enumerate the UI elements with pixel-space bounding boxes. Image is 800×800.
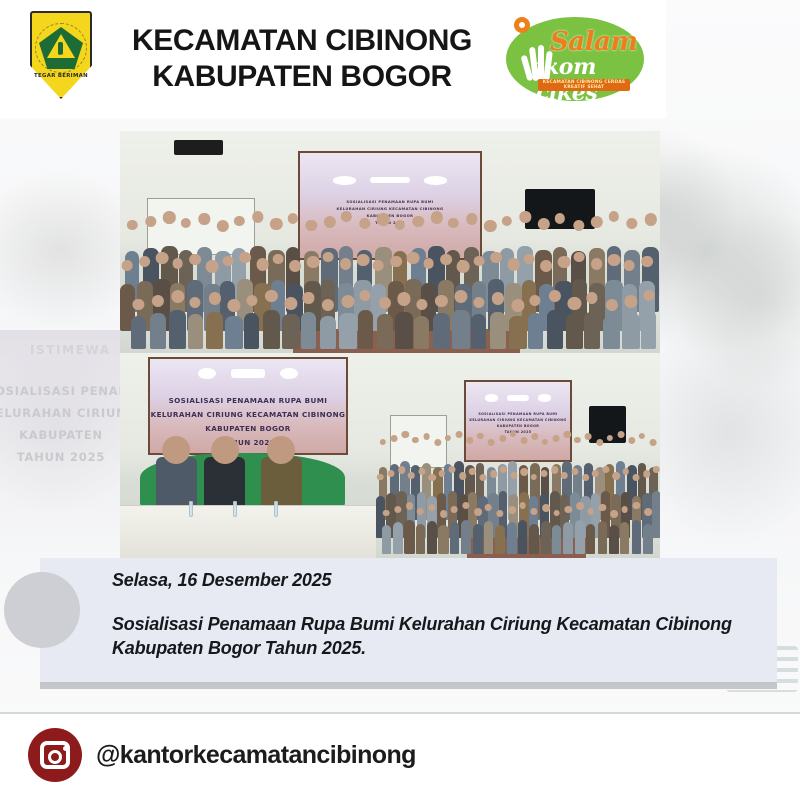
salam-ikom-cikes-logo-icon: Salam ikom cikes KECAMATAN CIBINONG CERD… <box>506 13 644 105</box>
caption-body: Sosialisasi Penamaan Rupa Bumi Kelurahan… <box>112 612 762 660</box>
banner-secondary-logo <box>538 394 552 401</box>
banner-secondary-logo <box>424 176 447 184</box>
banner-crest-logo <box>198 368 216 379</box>
background-ghost-badge: ISTIMEWA <box>30 343 111 357</box>
head-table <box>120 505 376 558</box>
instagram-lens-shape <box>48 750 62 764</box>
banner-secondary-logo <box>280 368 298 379</box>
crest-motto-label: TEGAR BERIMAN <box>28 73 94 79</box>
speakers-row <box>120 456 376 505</box>
banner-istimewa-logo <box>370 177 410 183</box>
banner-line-1: SOSIALISASI PENAMAAN RUPA BUMI <box>150 394 346 408</box>
banner-crest-logo <box>485 394 499 401</box>
banner-line-1: SOSIALISASI PENAMAAN RUPA BUMI <box>300 199 480 206</box>
banner-line-3: KABUPATEN BOGOR <box>150 422 346 436</box>
banner-istimewa-logo <box>231 369 264 378</box>
salam-thumb-icon <box>514 17 530 33</box>
poster-canvas: ISTIMEWA SOSIALISASI PENAMAAN KELURAHAN … <box>0 0 800 800</box>
title-line-2: KABUPATEN BOGOR <box>104 59 500 95</box>
poster-footer: @kantorkecamatancibinong BerAKHLAK Beror… <box>0 714 800 800</box>
salam-tagline: KECAMATAN CIBINONG CERDAS KREATIF SEHAT <box>538 79 630 91</box>
panel-speakers-photo: SOSIALISASI PENAMAAN RUPA BUMI KELURAHAN… <box>120 353 376 558</box>
salam-word-primary: Salam <box>550 27 637 57</box>
crest-inner-label: BOGOR <box>39 54 83 59</box>
photo-collage: SOSIALISASI PENAMAAN RUPA BUMI KELURAHAN… <box>120 131 660 558</box>
ghost-banner-line-2: KELURAHAN CIRIUNG KEC <box>0 402 136 424</box>
banner-logo-row <box>466 393 570 403</box>
instagram-account[interactable]: @kantorkecamatancibinong <box>28 728 416 782</box>
projector-icon <box>174 140 223 156</box>
bogor-regency-emblem-icon: BOGOR TEGAR BERIMAN <box>18 7 104 111</box>
banner-istimewa-logo <box>507 395 530 400</box>
crowd-secondary <box>376 431 660 558</box>
ghost-banner-line-1: SOSIALISASI PENAMAAN <box>0 380 136 402</box>
caption-panel-shadow <box>40 682 777 689</box>
water-bottle <box>189 501 193 517</box>
instagram-icon[interactable] <box>28 728 82 782</box>
background-ghost-banner: SOSIALISASI PENAMAAN KELURAHAN CIRIUNG K… <box>0 380 136 468</box>
page-title: KECAMATAN CIBINONG KABUPATEN BOGOR <box>104 23 506 95</box>
water-bottle <box>274 501 278 517</box>
group-photo-main: SOSIALISASI PENAMAAN RUPA BUMI KELURAHAN… <box>120 131 660 353</box>
group-photo-secondary: SOSIALISASI PENAMAAN RUPA BUMI KELURAHAN… <box>376 353 660 558</box>
crowd-main <box>120 215 660 353</box>
banner-logo-row <box>150 367 346 381</box>
banner-line-2: KELURAHAN CIRIUNG KECAMATAN CIBINONG <box>150 408 346 422</box>
water-bottle <box>233 501 237 517</box>
decorative-circle <box>4 572 80 648</box>
ghost-banner-line-4: TAHUN 2025 <box>0 446 136 468</box>
banner-logo-row <box>300 175 480 187</box>
ghost-banner-line-3: KABUPATEN <box>0 424 136 446</box>
banner-crest-logo <box>333 176 356 184</box>
instagram-handle[interactable]: @kantorkecamatancibinong <box>96 741 416 770</box>
banner-line-2: KELURAHAN CIRIUNG KECAMATAN CIBINONG <box>300 206 480 213</box>
poster-header: BOGOR TEGAR BERIMAN KECAMATAN CIBINONG K… <box>0 0 666 118</box>
caption-date: Selasa, 16 Desember 2025 <box>112 570 331 591</box>
title-line-1: KECAMATAN CIBINONG <box>104 23 500 59</box>
instagram-dot-shape <box>63 746 68 751</box>
